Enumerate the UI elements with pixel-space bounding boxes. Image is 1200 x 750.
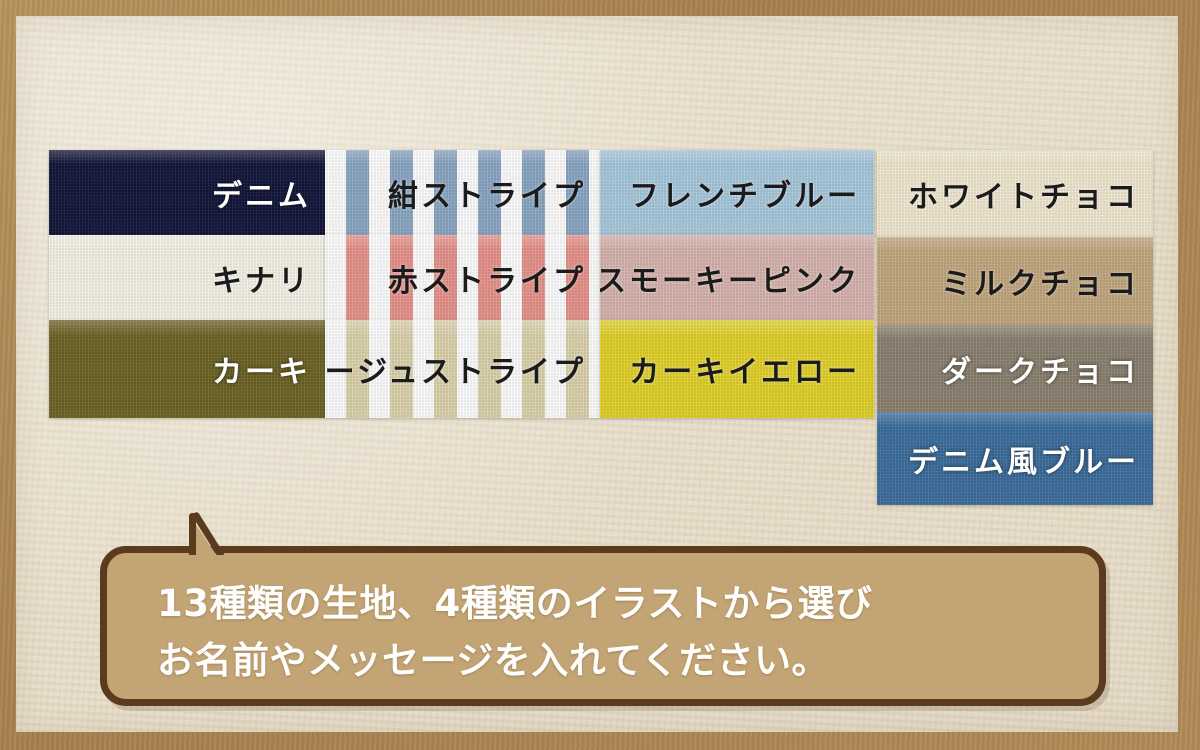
swatch-label-navy-stripe: 紺ストライプ — [388, 171, 600, 215]
swatch-french-blue[interactable]: フレンチブルー — [600, 150, 874, 235]
swatch-white-choco[interactable]: ホワイトチョコ — [877, 150, 1153, 237]
speech-bubble-text: 13種類の生地、4種類のイラストから選びお名前やメッセージを入れてください。 — [107, 553, 1099, 690]
swatch-khaki-yellow[interactable]: カーキイエロー — [600, 320, 874, 418]
swatch-label-french-blue: フレンチブルー — [629, 171, 874, 215]
swatch-label-white-choco: ホワイトチョコ — [908, 172, 1153, 216]
swatch-label-milk-choco: ミルクチョコ — [941, 259, 1153, 303]
swatch-column-2: 紺ストライプ赤ストライプベージュストライプ — [325, 150, 600, 418]
swatch-navy-stripe[interactable]: 紺ストライプ — [325, 150, 600, 235]
swatch-denim-blue[interactable]: デニム風ブルー — [877, 412, 1153, 505]
fabric-swatch-grid: デニムキナリカーキ紺ストライプ赤ストライプベージュストライプフレンチブルースモー… — [49, 150, 1153, 508]
swatch-label-khaki: カーキ — [212, 347, 325, 391]
swatch-column-4: ホワイトチョコミルクチョコダークチョコデニム風ブルー — [877, 150, 1153, 505]
swatch-column-1: デニムキナリカーキ — [49, 150, 325, 418]
swatch-label-red-stripe: 赤ストライプ — [388, 256, 600, 300]
swatch-denim[interactable]: デニム — [49, 150, 325, 235]
speech-bubble-line-1: 13種類の生地、4種類のイラストから選び — [157, 575, 1099, 632]
swatch-label-denim: デニム — [212, 171, 325, 215]
swatch-label-dark-choco: ダークチョコ — [941, 347, 1153, 391]
swatch-column-3: フレンチブルースモーキーピンクカーキイエロー — [600, 150, 874, 418]
swatch-smoky-pink[interactable]: スモーキーピンク — [600, 235, 874, 320]
swatch-label-beige-stripe: ベージュストライプ — [325, 347, 600, 391]
swatch-label-denim-blue: デニム風ブルー — [908, 437, 1153, 481]
poster-canvas: デニムキナリカーキ紺ストライプ赤ストライプベージュストライプフレンチブルースモー… — [0, 0, 1200, 750]
speech-bubble-line-2: お名前やメッセージを入れてください。 — [157, 632, 1099, 689]
swatch-khaki[interactable]: カーキ — [49, 320, 325, 418]
swatch-label-kinari: キナリ — [212, 256, 325, 300]
swatch-label-smoky-pink: スモーキーピンク — [600, 256, 874, 300]
swatch-beige-stripe[interactable]: ベージュストライプ — [325, 320, 600, 418]
swatch-milk-choco[interactable]: ミルクチョコ — [877, 237, 1153, 325]
swatch-label-khaki-yellow: カーキイエロー — [629, 347, 874, 391]
swatch-kinari[interactable]: キナリ — [49, 235, 325, 320]
swatch-red-stripe[interactable]: 赤ストライプ — [325, 235, 600, 320]
speech-bubble: 13種類の生地、4種類のイラストから選びお名前やメッセージを入れてください。 — [100, 546, 1106, 706]
swatch-dark-choco[interactable]: ダークチョコ — [877, 325, 1153, 412]
